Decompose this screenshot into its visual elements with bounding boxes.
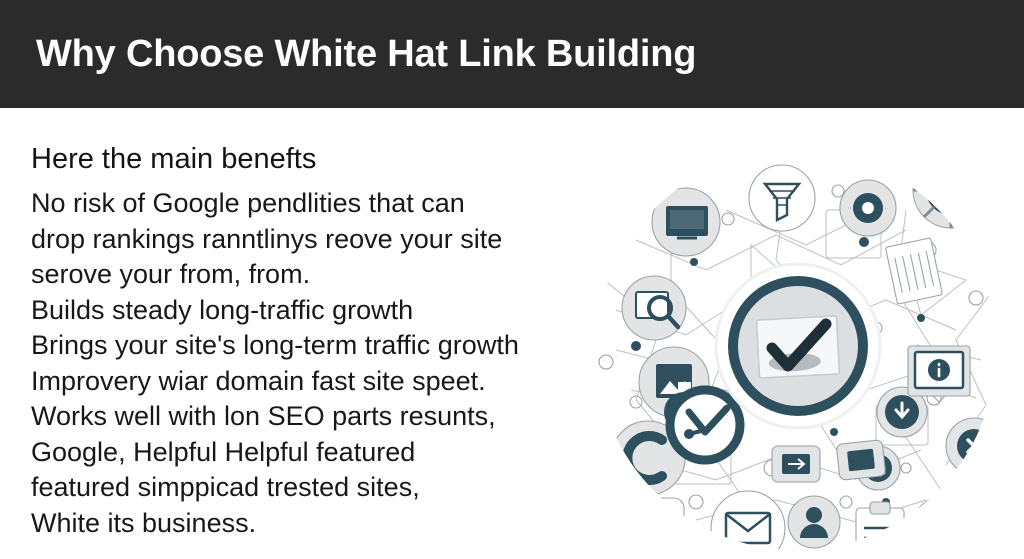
gear-small-icon [912, 496, 976, 555]
benefit-line: White its business. [31, 506, 571, 542]
checkmark-document-icon [757, 316, 840, 378]
search-icon [622, 276, 686, 340]
benefit-line: serove your from, from. [31, 257, 571, 293]
clipboard-icon [856, 502, 904, 555]
seo-icon-cluster-illustration: .nv { fill: #2e4f5e; } .nvs { stroke: #2… [576, 150, 1016, 555]
gear-icon [913, 152, 989, 228]
tag-icon [968, 480, 1010, 522]
benefit-line: Builds steady long-traffic growth [31, 293, 571, 329]
user-avatar-icon [788, 496, 840, 548]
calculator-icon [649, 536, 716, 555]
letter-o-icon [840, 180, 896, 236]
info-badge-icon [908, 346, 970, 402]
funnel-icon [749, 165, 815, 231]
chart-bars-icon [964, 492, 1016, 552]
benefit-line: Brings your site's long-term traffic gro… [31, 328, 571, 364]
monitor-icon [652, 188, 720, 256]
page-title: Why Choose White Hat Link Building [36, 33, 696, 76]
benefit-list: No risk of Google pendlities that can dr… [31, 186, 571, 541]
benefit-line: Works well with lon SEO parts resunts, [31, 399, 571, 435]
photo-bubble-icon [608, 498, 684, 553]
media-tile-icon [836, 440, 886, 481]
check-badge-ring-icon [670, 390, 740, 460]
benefit-line: Google, Helpful Helpful featured [31, 435, 571, 471]
share-tile-icon [772, 446, 820, 482]
center-hub [716, 264, 880, 428]
benefit-line: No risk of Google pendlities that can [31, 186, 571, 222]
benefit-line: Improvery wiar domain fast site speet. [31, 364, 571, 400]
header-band: Why Choose White Hat Link Building [0, 0, 1024, 108]
slide-canvas: Why Choose White Hat Link Building Here … [0, 0, 1024, 559]
content-column: Here the main benefts No risk of Google … [31, 140, 571, 541]
close-x-icon [946, 418, 1002, 474]
benefit-line: drop rankings ranntlinys reove your site [31, 222, 571, 258]
document-icon [885, 238, 942, 304]
section-subheading: Here the main benefts [31, 140, 571, 178]
benefit-line: featured simppicad trested sites, [31, 470, 571, 506]
